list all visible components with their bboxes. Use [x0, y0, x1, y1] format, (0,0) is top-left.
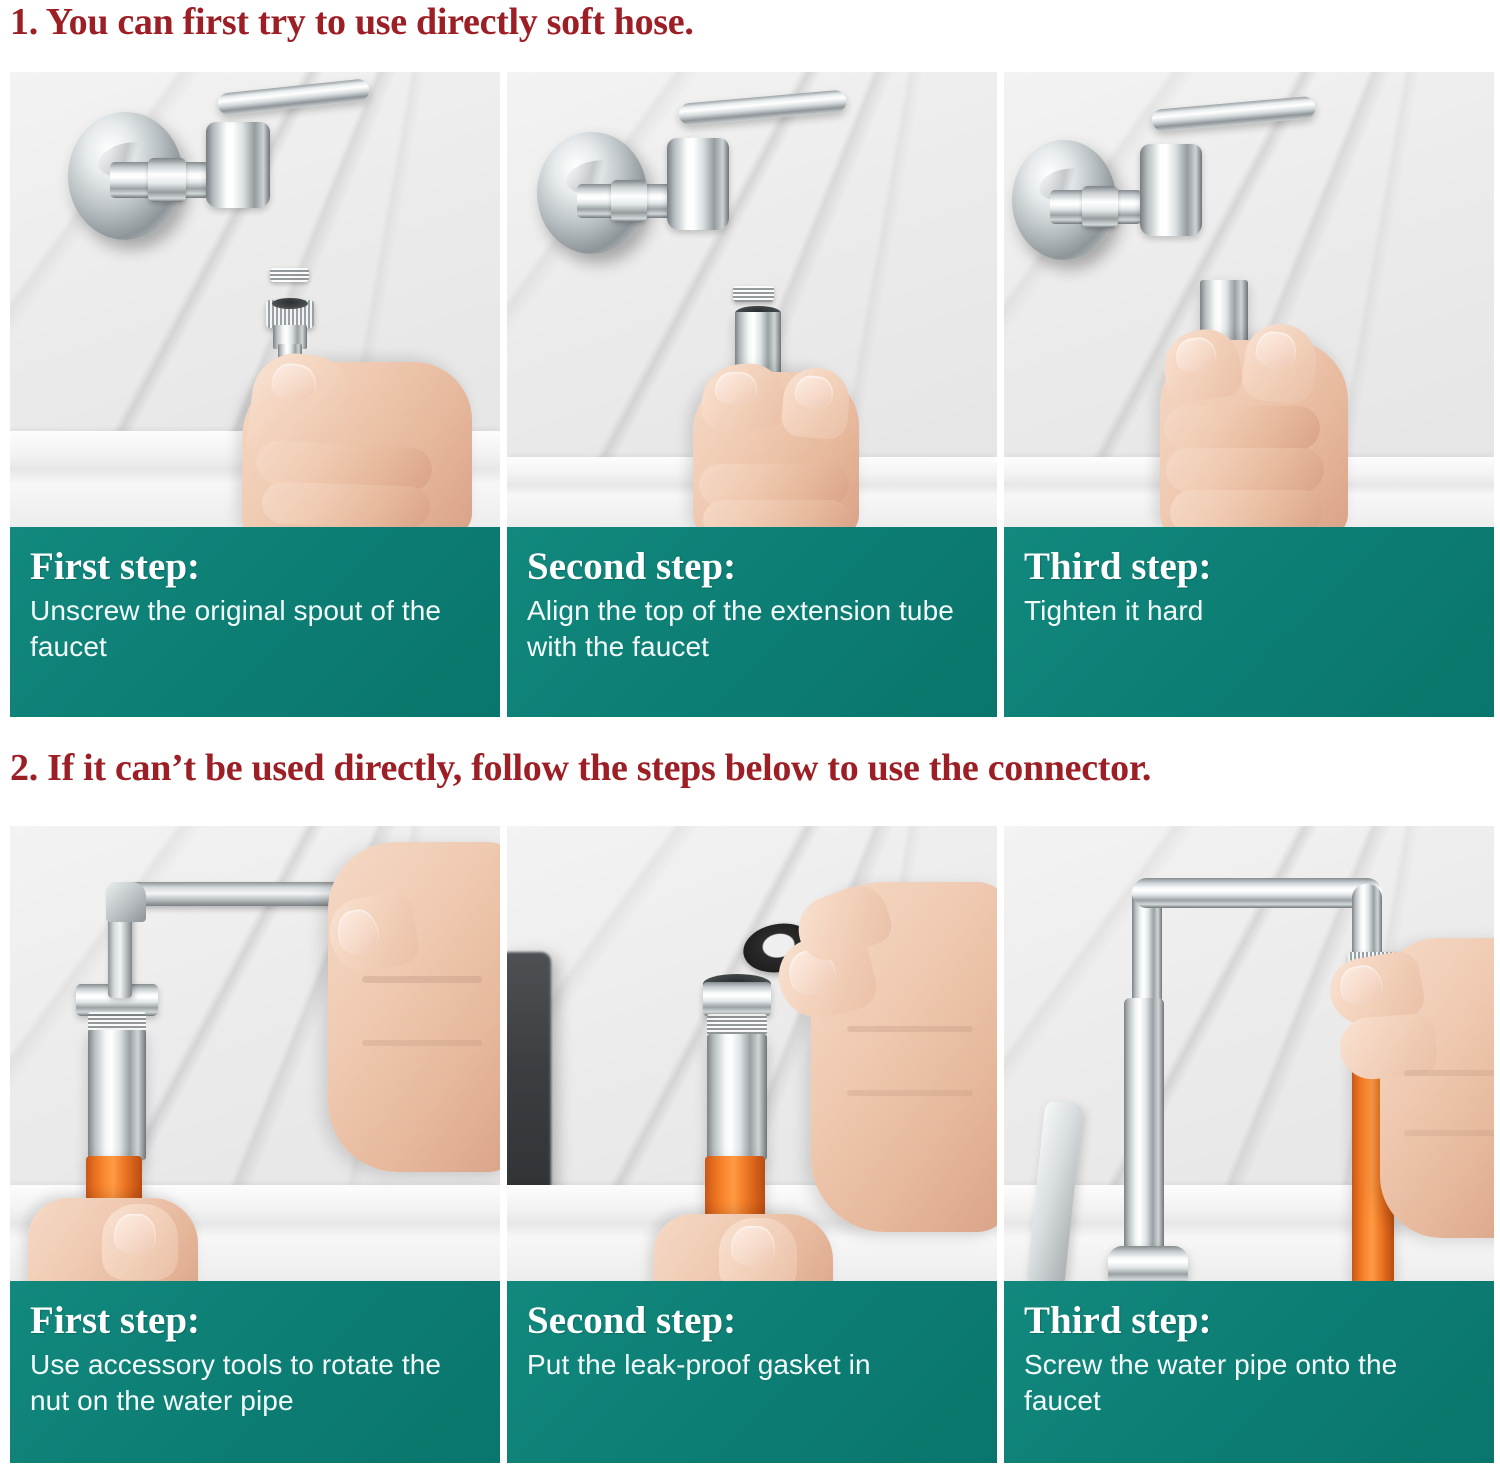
faucet-collar: [1082, 186, 1118, 228]
ring-finger: [261, 481, 430, 527]
step-panel-1-1: First step: Unscrew the original spout o…: [10, 72, 500, 717]
faucet-column: [1124, 998, 1164, 1258]
steps-row-2: First step: Use accessory tools to rotat…: [10, 826, 1494, 1463]
connector-barrel: [707, 1034, 767, 1160]
hex-wrench-long-arm: [120, 882, 356, 906]
faucet-valve-cartridge: [206, 122, 270, 208]
step-title: Third step:: [1024, 1299, 1474, 1343]
aerator-opening: [272, 298, 308, 309]
step-panel-1-2: Second step: Align the top of the extens…: [507, 72, 997, 717]
faucet-base: [1108, 1246, 1188, 1281]
step-caption-1-1: First step: Unscrew the original spout o…: [10, 527, 500, 717]
step-panel-2-1: First step: Use accessory tools to rotat…: [10, 826, 500, 1463]
thumb-nail: [731, 1226, 775, 1266]
step-caption-1-2: Second step: Align the top of the extens…: [507, 527, 997, 717]
step-body: Tighten it hard: [1024, 593, 1474, 629]
knuckle-crease: [1404, 1130, 1494, 1136]
knuckle-crease: [847, 1026, 973, 1032]
step-panel-1-3: Third step: Tighten it hard: [1004, 72, 1494, 717]
step-title: Third step:: [1024, 545, 1474, 589]
faucet-spout-threads: [270, 268, 309, 282]
step-title: First step:: [30, 1299, 480, 1343]
step-photo-1-2: [507, 72, 997, 527]
step-title: Second step:: [527, 1299, 977, 1343]
little-finger: [1170, 490, 1322, 527]
faucet-spout-threads: [733, 286, 774, 302]
step-title: First step:: [30, 545, 480, 589]
step-body: Align the top of the extension tube with…: [527, 593, 977, 665]
steps-row-1: First step: Unscrew the original spout o…: [10, 72, 1494, 717]
faucet-valve-cartridge: [667, 138, 729, 230]
middle-finger: [1164, 406, 1320, 450]
step-caption-2-1: First step: Use accessory tools to rotat…: [10, 1281, 500, 1463]
thumb-nail: [114, 1214, 156, 1254]
connector-collar: [703, 982, 771, 1016]
step-caption-2-2: Second step: Put the leak-proof gasket i…: [507, 1281, 997, 1463]
section-heading-2: 2. If it can’t be used directly, follow …: [10, 746, 1151, 790]
knuckle-crease: [362, 1040, 482, 1046]
step-body: Unscrew the original spout of the faucet: [30, 593, 480, 665]
step-panel-2-3: Third step: Screw the water pipe onto th…: [1004, 826, 1494, 1463]
index-fingernail: [714, 371, 758, 405]
knuckle-crease: [362, 976, 482, 983]
knuckle-crease: [847, 1090, 973, 1096]
step-photo-2-3: [1004, 826, 1494, 1281]
step-photo-1-1: [10, 72, 500, 527]
step-photo-1-3: [1004, 72, 1494, 527]
section-heading-1: 1. You can first try to use directly sof…: [10, 0, 694, 44]
step-body: Screw the water pipe onto the faucet: [1024, 1347, 1474, 1419]
faucet-valve-cartridge: [1140, 144, 1202, 236]
hand-palm: [328, 842, 500, 1172]
step-title: Second step:: [527, 545, 977, 589]
knuckle-crease: [1404, 1070, 1494, 1076]
faucet-riser-right: [1352, 884, 1382, 962]
connector-barrel: [88, 1030, 146, 1160]
step-body: Put the leak-proof gasket in: [527, 1347, 977, 1383]
step-body: Use accessory tools to rotate the nut on…: [30, 1347, 480, 1419]
step-caption-1-3: Third step: Tighten it hard: [1004, 527, 1494, 717]
step-caption-2-3: Third step: Screw the water pipe onto th…: [1004, 1281, 1494, 1463]
background-appliance: [507, 952, 551, 1202]
ring-finger: [1166, 448, 1324, 492]
step-photo-2-1: [10, 826, 500, 1281]
faucet-collar: [611, 180, 647, 222]
step-photo-2-2: [507, 826, 997, 1281]
instruction-sheet: 1. You can first try to use directly sof…: [0, 0, 1500, 1472]
ring-finger: [703, 500, 851, 527]
faucet-top-bar: [1132, 878, 1382, 908]
step-panel-2-2: Second step: Put the leak-proof gasket i…: [507, 826, 997, 1463]
faucet-collar: [148, 158, 186, 202]
hex-wrench-corner: [106, 882, 146, 922]
